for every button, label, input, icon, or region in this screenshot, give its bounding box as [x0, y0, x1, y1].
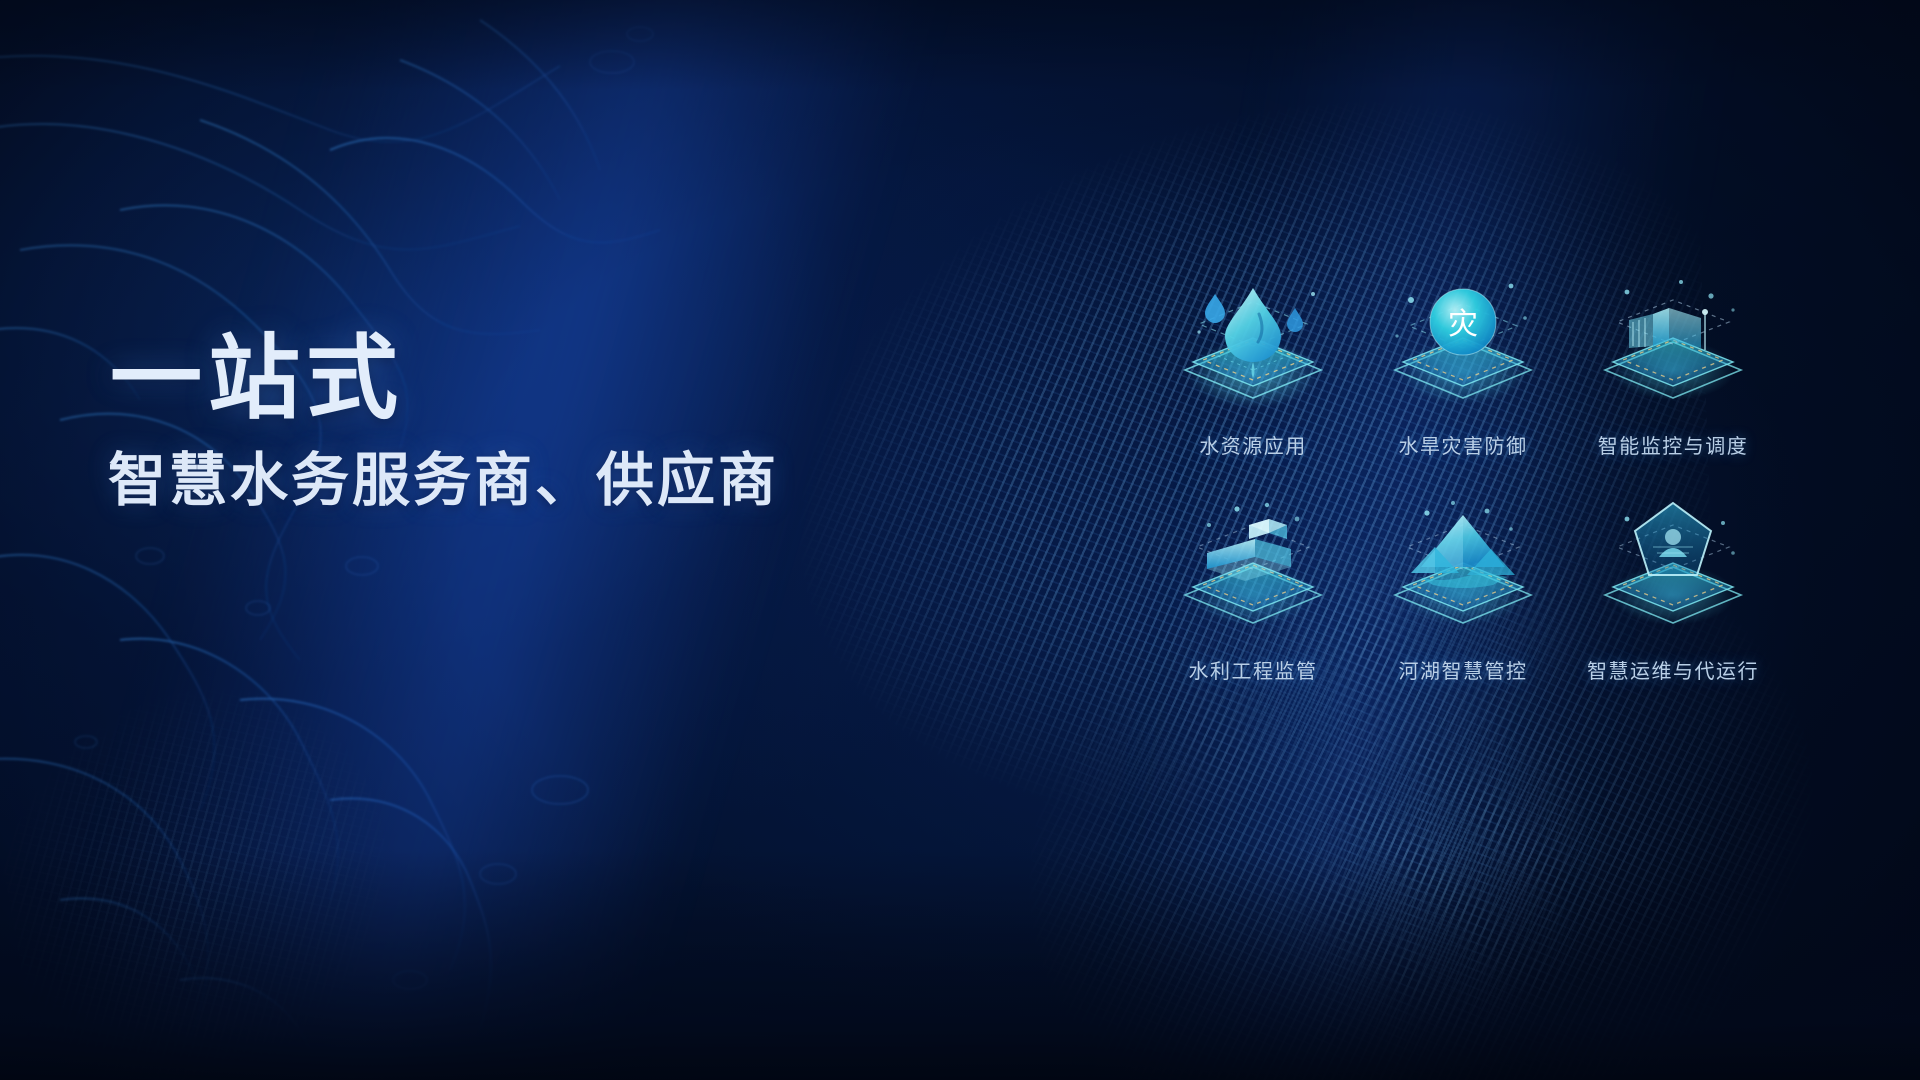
dam-structure-icon: [1163, 495, 1343, 645]
service-label: 水资源应用: [1199, 430, 1307, 459]
service-label: 智能监控与调度: [1598, 430, 1749, 459]
disaster-sphere-icon: 灾: [1373, 270, 1553, 420]
river-mountain-icon: [1373, 495, 1553, 645]
service-item-river-lake-management[interactable]: 河湖智慧管控: [1358, 495, 1568, 720]
service-item-flood-drought-defense[interactable]: 灾 水旱灾害防御: [1358, 270, 1568, 495]
bottom-fade-overlay: [0, 850, 1920, 1080]
shield-pentagon-icon: [1583, 495, 1763, 645]
disaster-badge-text: 灾: [1448, 308, 1478, 341]
service-item-smart-operation-maintenance[interactable]: 智慧运维与代运行: [1568, 495, 1778, 720]
top-fade-overlay: [0, 0, 1920, 90]
water-drop-icon: [1163, 270, 1343, 420]
service-label: 智慧运维与代运行: [1587, 655, 1759, 684]
service-item-hydraulic-engineering-supervision[interactable]: 水利工程监管: [1148, 495, 1358, 720]
service-icon-grid: 水资源应用: [1148, 270, 1778, 720]
service-label: 水旱灾害防御: [1399, 430, 1528, 459]
monitoring-station-icon: [1583, 270, 1763, 420]
service-item-water-resource[interactable]: 水资源应用: [1148, 270, 1358, 495]
service-label: 河湖智慧管控: [1399, 655, 1528, 684]
service-label: 水利工程监管: [1189, 655, 1318, 684]
service-item-smart-monitoring-dispatch[interactable]: 智能监控与调度: [1568, 270, 1778, 495]
headline-main: 一站式: [108, 330, 988, 429]
banner-stage: 一站式 智慧水务服务商、供应商: [0, 0, 1920, 1080]
headline-block: 一站式 智慧水务服务商、供应商: [108, 330, 988, 515]
headline-sub: 智慧水务服务商、供应商: [108, 447, 988, 514]
